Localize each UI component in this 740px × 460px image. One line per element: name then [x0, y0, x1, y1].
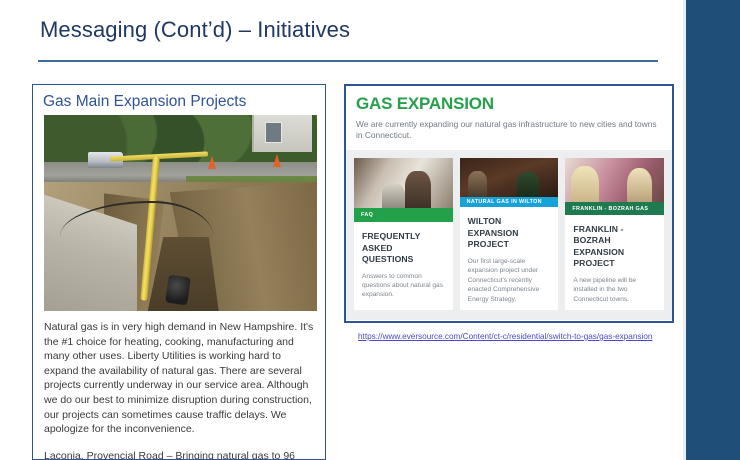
faq-card-photo — [354, 158, 453, 208]
faq-card-text: Answers to common questions about natura… — [362, 272, 445, 300]
franklin-bozrah-card-photo — [565, 158, 664, 202]
franklin-bozrah-card-tag: FRANKLIN - BOZRAH GAS — [565, 202, 664, 214]
right-accent-bar — [686, 0, 740, 460]
franklin-bozrah-card-body: FRANKLIN - BOZRAH EXPANSION PROJECT A ne… — [565, 215, 664, 310]
photo-house — [252, 115, 312, 152]
card-franklin-bozrah[interactable]: FRANKLIN - BOZRAH GAS FRANKLIN - BOZRAH … — [565, 158, 664, 310]
left-panel: Gas Main Expansion Projects Natural gas … — [32, 84, 326, 460]
franklin-bozrah-card-text: A new pipeline will be installed in the … — [573, 276, 656, 304]
franklin-bozrah-card-title: FRANKLIN - BOZRAH EXPANSION PROJECT — [573, 224, 656, 270]
left-panel-heading: Gas Main Expansion Projects — [43, 93, 317, 111]
faq-card-title: FREQUENTLY ASKED QUESTIONS — [362, 231, 445, 266]
gas-main-trench-photo — [44, 115, 317, 311]
right-panel-screenshot: GAS EXPANSION We are currently expanding… — [344, 84, 674, 323]
left-panel-body: Natural gas is in very high demand in Ne… — [44, 320, 314, 460]
slide-title: Messaging (Cont’d) – Initiatives — [40, 17, 350, 43]
title-underline-rule — [38, 60, 658, 62]
gas-expansion-title: GAS EXPANSION — [356, 94, 662, 114]
photo-pipe-end-cap — [165, 274, 191, 305]
wilton-card-text: Our first large-scale expansion project … — [468, 257, 551, 304]
faq-card-tag: FAQ — [354, 208, 453, 222]
photo-traffic-cone — [208, 156, 216, 169]
right-panel-header: GAS EXPANSION We are currently expanding… — [346, 86, 672, 150]
card-wilton[interactable]: NATURAL GAS IN WILTON WILTON EXPANSION P… — [460, 158, 559, 310]
expansion-cards-row: FAQ FREQUENTLY ASKED QUESTIONS Answers t… — [346, 150, 672, 320]
wilton-card-photo — [460, 158, 559, 197]
photo-traffic-cone — [273, 154, 281, 167]
gas-expansion-subtitle: We are currently expanding our natural g… — [356, 119, 662, 141]
slide-canvas: Messaging (Cont’d) – Initiatives Gas Mai… — [0, 0, 740, 460]
card-faq[interactable]: FAQ FREQUENTLY ASKED QUESTIONS Answers t… — [354, 158, 453, 310]
faq-card-body: FREQUENTLY ASKED QUESTIONS Answers to co… — [354, 222, 453, 310]
eversource-source-link[interactable]: https://www.eversource.com/Content/ct-c/… — [358, 332, 652, 341]
left-panel-paragraph: Natural gas is in very high demand in Ne… — [44, 320, 314, 437]
wilton-card-body: WILTON EXPANSION PROJECT Our first large… — [460, 207, 559, 310]
wilton-card-tag: NATURAL GAS IN WILTON — [460, 197, 559, 208]
wilton-card-title: WILTON EXPANSION PROJECT — [468, 216, 551, 251]
left-panel-project-line: Laconia, Provencial Road – Bringing natu… — [44, 449, 314, 460]
